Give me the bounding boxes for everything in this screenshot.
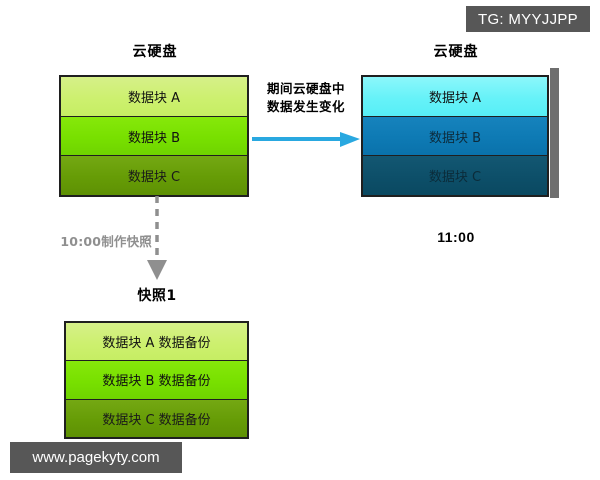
- left-disk-title: 云硬盘: [60, 41, 250, 61]
- data-change-label: 期间云硬盘中 数据发生变化: [252, 80, 360, 116]
- snapshot-box: 数据块 A 数据备份 数据块 B 数据备份 数据块 C 数据备份: [64, 321, 249, 439]
- right-disk-block-a: 数据块 A: [363, 77, 547, 117]
- left-disk-block-c: 数据块 C: [61, 156, 247, 195]
- left-disk-block-b: 数据块 B: [61, 117, 247, 157]
- right-disk-block-b: 数据块 B: [363, 117, 547, 157]
- snapshot-block-c: 数据块 C 数据备份: [66, 400, 247, 437]
- right-disk-title: 云硬盘: [362, 41, 550, 61]
- right-disk-block-c: 数据块 C: [363, 156, 547, 195]
- snapshot-block-a: 数据块 A 数据备份: [66, 323, 247, 361]
- right-cloud-disk: 数据块 A 数据块 B 数据块 C: [361, 75, 549, 197]
- dashed-down-arrow-icon: [140, 196, 174, 280]
- right-disk-side-bar: [550, 68, 559, 198]
- snapshot-block-b: 数据块 B 数据备份: [66, 361, 247, 399]
- data-change-label-line2: 数据发生变化: [252, 98, 360, 116]
- diagram-canvas: TG: MYYJJPP 云硬盘 数据块 A 数据块 B 数据块 C 期间云硬盘中…: [0, 0, 600, 480]
- left-cloud-disk: 数据块 A 数据块 B 数据块 C: [59, 75, 249, 197]
- left-disk-block-a: 数据块 A: [61, 77, 247, 117]
- right-arrow-icon: [250, 131, 360, 151]
- snapshot-title: 快照1: [65, 285, 249, 305]
- right-disk-time-label: 11:00: [362, 229, 550, 245]
- site-watermark-badge: www.pagekyty.com: [10, 442, 182, 473]
- tg-watermark-badge: TG: MYYJJPP: [466, 6, 590, 32]
- snapshot-time-label: 10:00制作快照: [44, 231, 152, 250]
- data-change-label-line1: 期间云硬盘中: [252, 80, 360, 98]
